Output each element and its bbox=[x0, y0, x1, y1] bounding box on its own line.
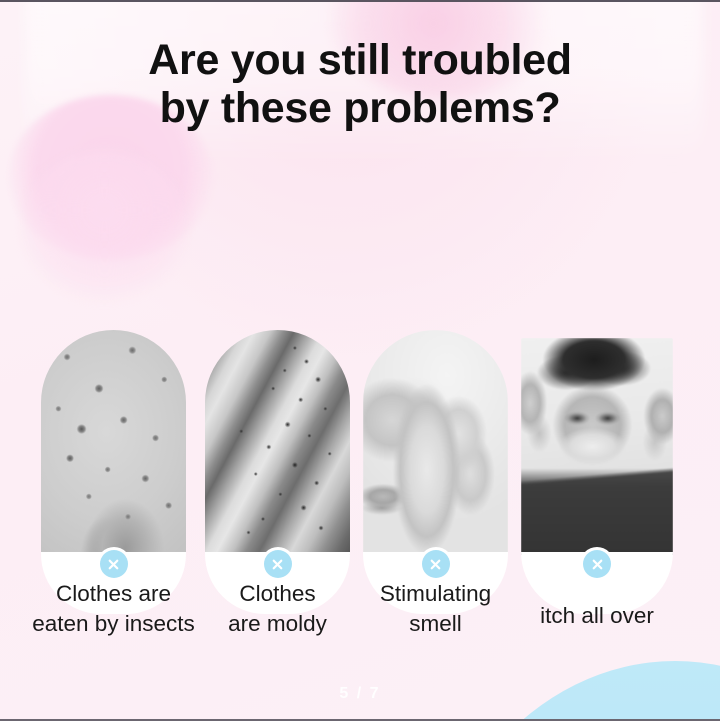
x-mark-icon bbox=[100, 550, 128, 578]
moth-eaten-fabric-photo bbox=[41, 330, 186, 555]
page-indicator: 5 / 7 bbox=[0, 685, 720, 703]
page-title: Are you still troubled by these problems… bbox=[0, 36, 720, 132]
page-title-line-2: by these problems? bbox=[0, 84, 720, 132]
card-caption: Clothes are eaten by insects bbox=[19, 579, 208, 638]
x-mark-icon bbox=[422, 550, 450, 578]
problem-card-itch-all-over[interactable]: itch all over bbox=[521, 338, 673, 623]
problem-card-clothes-eaten[interactable]: Clothes are eaten by insects bbox=[41, 330, 186, 615]
status-badge bbox=[419, 547, 453, 581]
moldy-fabric-photo bbox=[205, 330, 350, 555]
x-mark-icon bbox=[583, 550, 611, 578]
top-frame-line bbox=[0, 0, 720, 2]
status-badge bbox=[97, 547, 131, 581]
x-mark-icon bbox=[264, 550, 292, 578]
problem-card-clothes-moldy[interactable]: Clothes are moldy bbox=[205, 330, 350, 615]
status-badge bbox=[580, 547, 614, 581]
pinching-nose-photo bbox=[363, 330, 508, 555]
problem-card-stimulating-smell[interactable]: Stimulating smell bbox=[363, 330, 508, 615]
page-title-line-1: Are you still troubled bbox=[148, 36, 571, 84]
status-badge bbox=[261, 547, 295, 581]
man-with-mask-itching-photo bbox=[521, 338, 673, 555]
card-caption: itch all over bbox=[499, 601, 695, 631]
